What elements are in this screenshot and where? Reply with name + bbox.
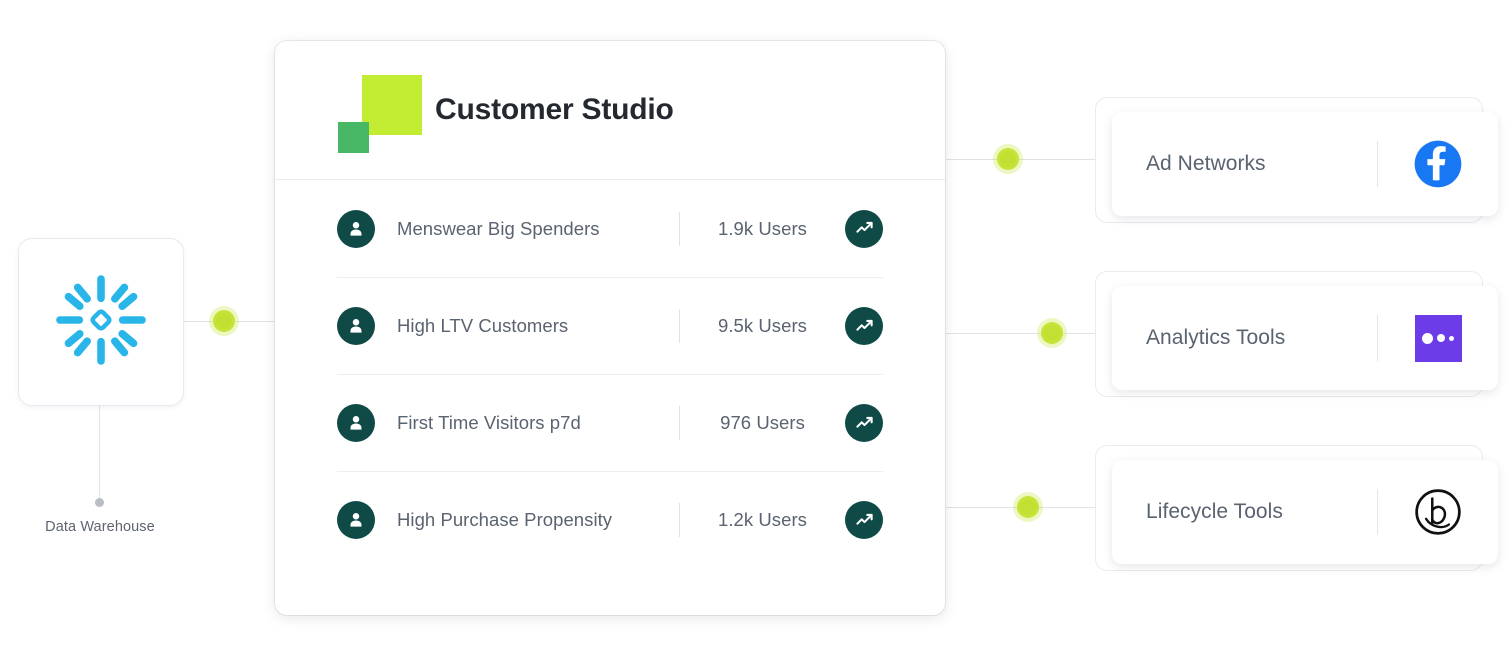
destination-card-inner[interactable]: Ad Networks — [1112, 112, 1498, 216]
segment-row[interactable]: Menswear Big Spenders 1.9k Users — [337, 180, 883, 277]
mixpanel-icon — [1412, 312, 1464, 364]
mixpanel-square — [1415, 315, 1462, 362]
connector-node-warehouse[interactable] — [213, 310, 235, 332]
person-icon — [337, 501, 375, 539]
wire-studio-to-analytics-tools — [944, 333, 1110, 334]
destination-divider — [1377, 315, 1378, 361]
segment-row[interactable]: First Time Visitors p7d 976 Users — [337, 374, 883, 471]
connector-node-core — [1044, 325, 1060, 341]
connector-node-core — [216, 313, 232, 329]
segment-row[interactable]: High LTV Customers 9.5k Users — [337, 277, 883, 374]
person-icon — [337, 404, 375, 442]
connector-node-core — [1020, 499, 1036, 515]
facebook-icon — [1412, 138, 1464, 190]
connector-node-core — [1000, 151, 1016, 167]
trending-up-icon[interactable] — [845, 404, 883, 442]
diagram-canvas: Data Warehouse Customer Studio Menswear … — [0, 0, 1509, 662]
destination-card-ad-networks[interactable]: Ad Networks — [1095, 97, 1483, 223]
customer-studio-logo — [337, 69, 415, 151]
destination-card-analytics-tools[interactable]: Analytics Tools — [1095, 271, 1483, 397]
trending-up-icon[interactable] — [845, 210, 883, 248]
segment-list: Menswear Big Spenders 1.9k Users — [275, 180, 945, 568]
page-title: Customer Studio — [435, 93, 674, 127]
segment-name: High Purchase Propensity — [397, 509, 679, 531]
data-warehouse-label: Data Warehouse — [0, 519, 200, 535]
segment-user-count: 1.2k Users — [680, 509, 845, 531]
destination-divider — [1377, 141, 1378, 187]
segment-row[interactable]: High Purchase Propensity 1.2k Users — [337, 471, 883, 568]
person-icon — [337, 210, 375, 248]
person-icon — [337, 307, 375, 345]
mixpanel-dot-large — [1422, 333, 1433, 344]
destination-label: Analytics Tools — [1146, 326, 1377, 350]
trending-up-icon[interactable] — [845, 307, 883, 345]
segment-user-count: 976 Users — [680, 412, 845, 434]
destination-label: Ad Networks — [1146, 152, 1377, 176]
segment-user-count: 9.5k Users — [680, 315, 845, 337]
wire-studio-to-ad-networks — [944, 159, 1110, 160]
customer-studio-header: Customer Studio — [275, 41, 945, 180]
braze-icon — [1412, 486, 1464, 538]
wire-endpoint-dot — [95, 498, 104, 507]
snowflake-icon — [45, 264, 157, 381]
mixpanel-dot-medium — [1437, 334, 1445, 342]
connector-node-ad-networks[interactable] — [997, 148, 1019, 170]
segment-user-count: 1.9k Users — [680, 218, 845, 240]
destination-card-lifecycle-tools[interactable]: Lifecycle Tools — [1095, 445, 1483, 571]
destination-divider — [1377, 489, 1378, 535]
logo-square-large-icon — [362, 75, 422, 135]
logo-square-small-icon — [338, 122, 369, 153]
connector-node-lifecycle-tools[interactable] — [1017, 496, 1039, 518]
mixpanel-dot-small — [1449, 336, 1454, 341]
data-warehouse-tile[interactable] — [18, 238, 184, 406]
wire-warehouse-label-stem — [99, 404, 100, 503]
segment-name: First Time Visitors p7d — [397, 412, 679, 434]
destination-card-inner[interactable]: Analytics Tools — [1112, 286, 1498, 390]
destination-label: Lifecycle Tools — [1146, 500, 1377, 524]
trending-up-icon[interactable] — [845, 501, 883, 539]
connector-node-analytics-tools[interactable] — [1041, 322, 1063, 344]
customer-studio-card: Customer Studio Menswear Big Spenders 1.… — [275, 41, 945, 615]
segment-name: High LTV Customers — [397, 315, 679, 337]
destination-card-inner[interactable]: Lifecycle Tools — [1112, 460, 1498, 564]
segment-name: Menswear Big Spenders — [397, 218, 679, 240]
